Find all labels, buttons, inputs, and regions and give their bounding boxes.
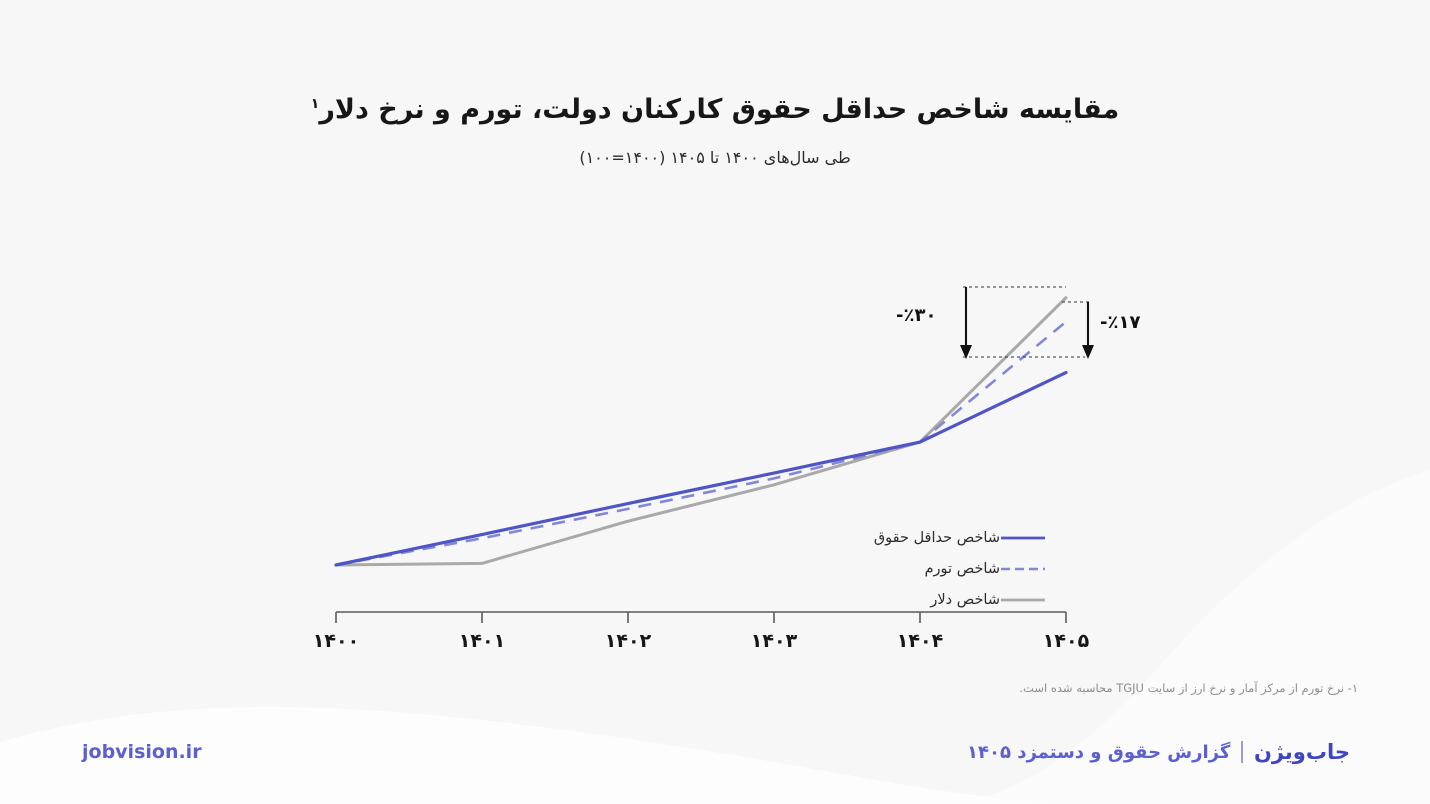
x-axis-tick-label: ۱۴۰۳ bbox=[751, 630, 797, 652]
legend-swatch-1 bbox=[1000, 532, 1046, 544]
legend-item[interactable]: شاخص دلار bbox=[862, 584, 1052, 615]
footer-report-title: گزارش حقوق و دستمزد ۱۴۰۵ bbox=[967, 742, 1230, 763]
x-axis-tick-label: ۱۴۰۴ bbox=[897, 630, 943, 652]
legend-item-label: شاخص دلار bbox=[872, 592, 1000, 608]
legend-item-label: شاخص حداقل حقوق bbox=[872, 530, 1000, 546]
legend-item-label: شاخص تورم bbox=[872, 561, 1000, 577]
footer-brand-block: جاب‌ویژن گزارش حقوق و دستمزد ۱۴۰۵ bbox=[967, 740, 1350, 764]
legend-item[interactable]: شاخص تورم bbox=[862, 553, 1052, 584]
x-axis-tick-label: ۱۴۰۱ bbox=[459, 630, 505, 652]
footer-divider bbox=[1241, 741, 1243, 763]
delta-label-inflation: -٪۱۷ bbox=[1100, 312, 1140, 333]
x-axis-tick-label: ۱۴۰۰ bbox=[313, 630, 359, 652]
slide-root: مقایسه شاخص حداقل حقوق کارکنان دولت، تور… bbox=[0, 0, 1430, 804]
annotation-delta-right bbox=[1062, 302, 1094, 359]
brand-website-link[interactable]: jobvision.ir bbox=[82, 741, 202, 763]
legend-swatch-2 bbox=[1000, 563, 1046, 575]
chart-legend: شاخص حداقل حقوقشاخص تورمشاخص دلار bbox=[862, 522, 1052, 615]
jobvision-logo: جاب‌ویژن bbox=[1254, 740, 1350, 764]
legend-swatch-3 bbox=[1000, 594, 1046, 606]
footnote: ۱- نرخ تورم از مرکز آمار و نرخ ارز از سا… bbox=[1019, 681, 1358, 695]
x-axis-tick-label: ۱۴۰۵ bbox=[1043, 630, 1089, 652]
x-axis-tick-label: ۱۴۰۲ bbox=[605, 630, 651, 652]
delta-label-dollar: -٪۳۰ bbox=[896, 305, 936, 326]
legend-item[interactable]: شاخص حداقل حقوق bbox=[862, 522, 1052, 553]
